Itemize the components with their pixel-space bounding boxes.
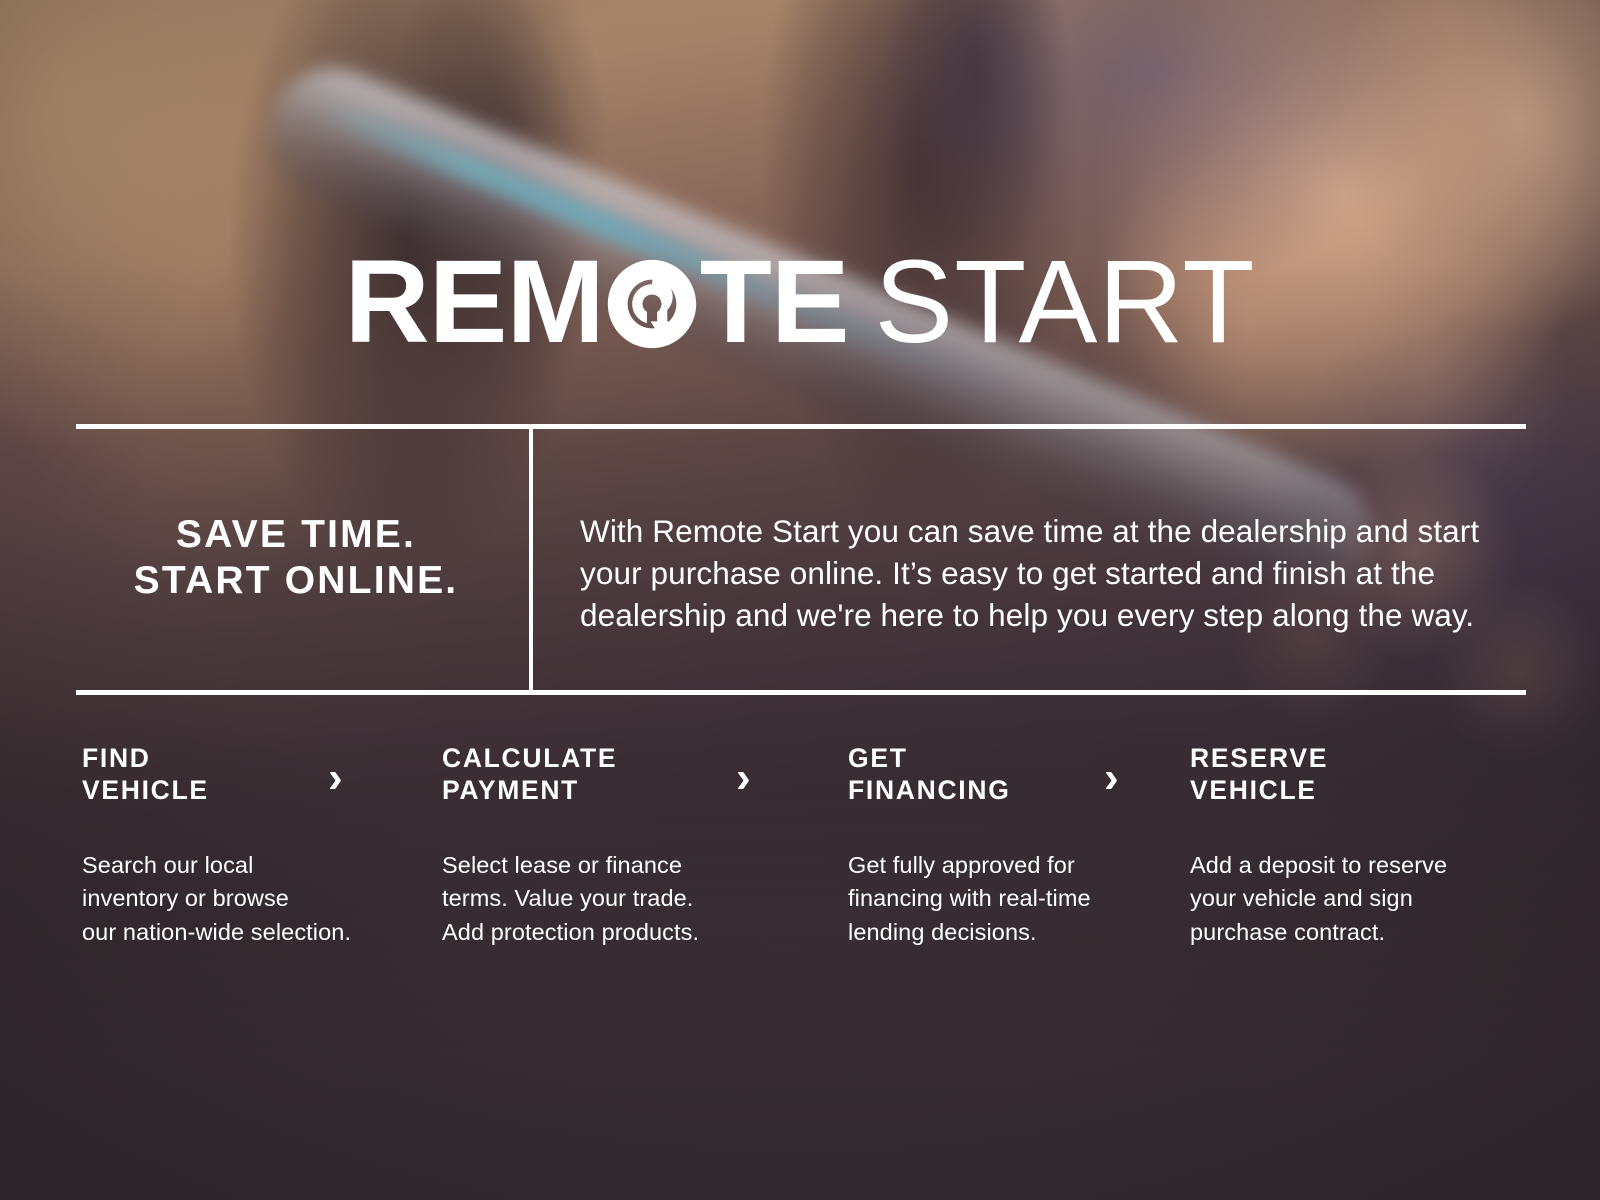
step-title: GET FINANCING xyxy=(848,742,1148,807)
intro-paragraph: With Remote Start you can save time at t… xyxy=(580,510,1480,637)
divider-bottom xyxy=(76,690,1526,695)
step-reserve-vehicle[interactable]: RESERVE VEHICLE Add a deposit to reserve… xyxy=(1190,742,1520,950)
brand-title-bold-head: REM xyxy=(345,243,604,361)
divider-top xyxy=(76,424,1526,429)
chevron-right-icon: › xyxy=(328,756,343,800)
step-get-financing[interactable]: GET FINANCING Get fully approved for fin… xyxy=(848,742,1148,950)
tagline-line-1: SAVE TIME. xyxy=(76,512,516,558)
brand-title-bold-tail: TE xyxy=(700,243,849,361)
step-title: RESERVE VEHICLE xyxy=(1190,742,1520,807)
chevron-right-icon: › xyxy=(736,756,751,800)
step-calculate-payment[interactable]: CALCULATE PAYMENT Select lease or financ… xyxy=(442,742,742,950)
step-description: Search our local inventory or browse our… xyxy=(82,849,382,950)
brand-title-light: START xyxy=(875,243,1256,361)
tagline-line-2: START ONLINE. xyxy=(76,558,516,604)
chevron-right-icon: › xyxy=(1104,756,1119,800)
divider-vertical xyxy=(529,424,533,695)
restart-arrow-icon xyxy=(606,258,698,350)
step-description: Select lease or finance terms. Value you… xyxy=(442,849,742,950)
remote-start-hero-banner: REMTESTART SAVE TIME. START ONLINE. With… xyxy=(0,0,1600,1200)
step-description: Get fully approved for financing with re… xyxy=(848,849,1148,950)
page-title: REMTESTART xyxy=(0,243,1600,361)
steps-list: FIND VEHICLE Search our local inventory … xyxy=(76,742,1531,952)
step-description: Add a deposit to reserve your vehicle an… xyxy=(1190,849,1520,950)
tagline: SAVE TIME. START ONLINE. xyxy=(76,512,516,604)
step-title: CALCULATE PAYMENT xyxy=(442,742,742,807)
